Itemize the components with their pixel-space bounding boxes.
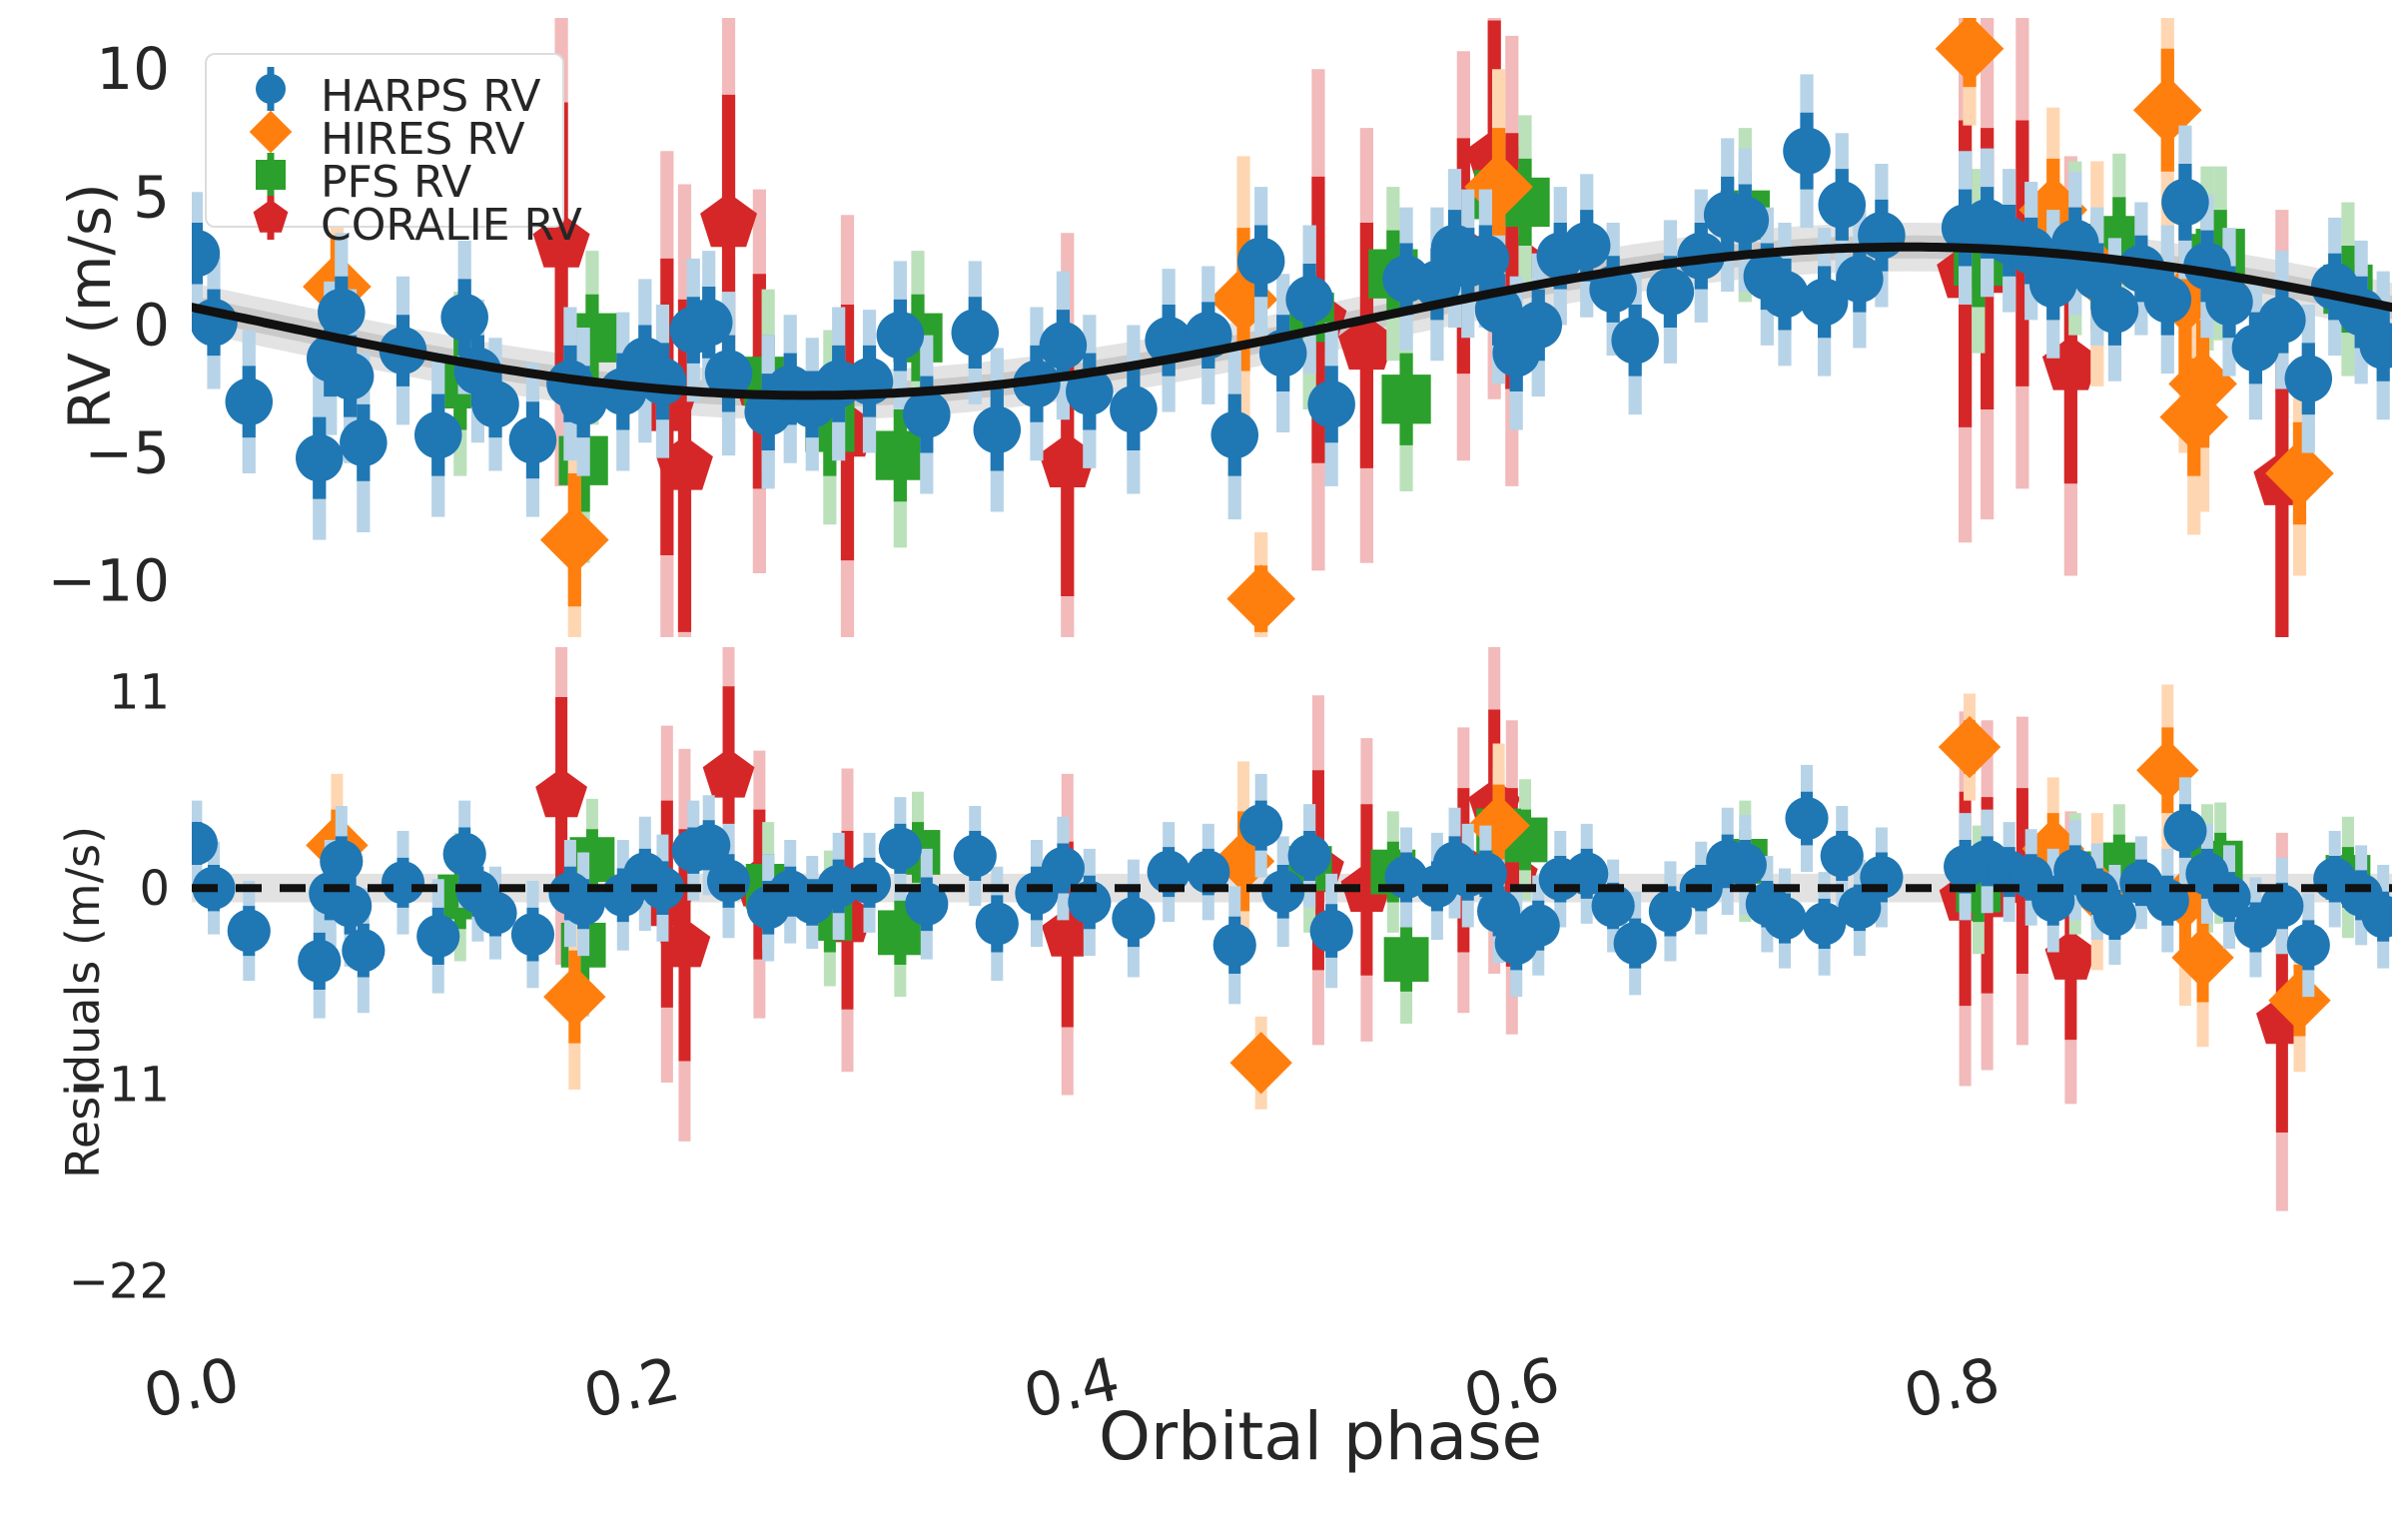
data-point-marker <box>1112 897 1155 940</box>
data-point-marker <box>1614 922 1657 965</box>
data-point-marker <box>1563 222 1611 270</box>
data-point-marker <box>1381 375 1430 423</box>
data-point-marker <box>1210 411 1258 459</box>
data-point-marker <box>342 929 385 972</box>
residuals-y-tick-label: 0 <box>139 861 170 917</box>
data-point-marker <box>320 840 363 883</box>
data-point-marker <box>540 505 609 574</box>
x-tick-label: 0.8 <box>1898 1344 2006 1432</box>
data-point-marker <box>511 913 554 956</box>
data-point-marker <box>1239 804 1282 847</box>
data-point-marker <box>2091 286 2139 334</box>
data-point-marker <box>2029 261 2077 309</box>
data-point-marker <box>685 299 733 347</box>
data-point-marker <box>2258 297 2306 345</box>
data-point-marker <box>1818 181 1866 229</box>
data-point-marker <box>471 380 519 428</box>
data-point-marker <box>2287 924 2330 967</box>
data-point-marker <box>703 748 755 797</box>
data-point-marker <box>1783 127 1831 175</box>
data-point-marker <box>416 915 459 958</box>
data-point-marker <box>318 289 366 337</box>
legend-label: CORALIE RV <box>321 200 582 251</box>
rv-phase-figure: −10−50510110−11−220.00.20.40.60.8 RV (m/… <box>0 0 2408 1517</box>
x-tick-label: 0.2 <box>577 1344 685 1432</box>
data-point-marker <box>2163 809 2206 852</box>
data-point-marker <box>1724 843 1767 886</box>
data-point-marker <box>1042 847 1085 890</box>
data-point-marker <box>707 859 750 902</box>
data-point-marker <box>639 358 687 405</box>
data-point-marker <box>1110 385 1158 433</box>
data-point-marker <box>1237 238 1285 286</box>
data-point-marker <box>2359 322 2407 370</box>
data-point-marker <box>876 430 925 479</box>
data-point-marker <box>443 833 486 876</box>
residuals-y-tick-label: −22 <box>69 1253 170 1309</box>
data-point-marker <box>298 940 341 983</box>
data-point-marker <box>1722 197 1770 245</box>
data-point-marker <box>340 419 388 467</box>
data-point-marker <box>952 309 1000 357</box>
data-point-marker <box>1040 322 1088 370</box>
rv-axis-label: RV (m/s) <box>56 183 124 429</box>
data-point-marker <box>382 861 424 904</box>
rv-y-tick-label: 0 <box>133 291 170 359</box>
data-point-marker <box>543 966 605 1028</box>
data-point-marker <box>440 294 488 342</box>
data-point-marker <box>974 406 1022 454</box>
data-point-marker <box>1858 212 1906 260</box>
data-point-marker <box>473 892 516 935</box>
data-point-marker <box>954 834 997 877</box>
data-point-marker <box>2285 355 2333 402</box>
data-point-marker <box>1384 937 1429 982</box>
data-point-marker <box>1285 276 1333 324</box>
data-point-marker <box>2144 276 2192 324</box>
data-point-marker <box>1821 834 1864 877</box>
data-point-marker <box>175 822 218 865</box>
data-point-marker <box>1229 1032 1291 1094</box>
data-point-marker <box>1462 235 1510 283</box>
residuals-axis-label: Residuals (m/s) <box>56 826 110 1178</box>
data-point-marker <box>877 312 925 360</box>
data-point-marker <box>1860 856 1903 899</box>
data-point-marker <box>1213 924 1256 967</box>
data-point-marker <box>226 379 274 426</box>
data-point-marker <box>1761 271 1809 319</box>
data-point-marker <box>535 768 587 817</box>
legend-marker-pentagon-icon <box>225 196 321 256</box>
data-point-marker <box>976 902 1019 945</box>
residuals-panel-frame <box>192 647 2392 1316</box>
legend-item-coralie[interactable]: CORALIE RV <box>225 204 582 247</box>
data-point-marker <box>848 861 891 904</box>
data-point-marker <box>1836 256 1884 304</box>
rv-y-tick-label: −10 <box>48 547 170 615</box>
data-point-marker <box>327 353 375 400</box>
rv-y-tick-label: 10 <box>96 35 170 103</box>
data-point-marker <box>879 827 922 870</box>
rv-y-tick-label: 5 <box>133 163 170 231</box>
data-point-marker <box>2362 895 2405 938</box>
data-point-marker <box>700 193 757 247</box>
data-point-marker <box>1647 268 1695 316</box>
x-tick-label: 0.0 <box>138 1344 246 1432</box>
data-point-marker <box>1611 317 1659 365</box>
data-point-marker <box>2161 179 2209 227</box>
residuals-y-tick-label: 11 <box>109 665 170 721</box>
data-point-marker <box>2205 279 2253 327</box>
data-point-marker <box>1288 834 1331 877</box>
data-point-marker <box>1307 380 1355 428</box>
data-point-marker <box>509 416 557 464</box>
data-point-marker <box>1763 897 1806 940</box>
data-point-marker <box>1517 904 1560 947</box>
data-point-marker <box>228 909 271 952</box>
data-point-marker <box>1226 564 1295 633</box>
x-axis-label: Orbital phase <box>1099 1398 1542 1475</box>
data-point-marker <box>414 411 462 459</box>
data-point-marker <box>1310 909 1353 952</box>
data-point-marker <box>296 434 344 482</box>
data-point-marker <box>1514 302 1562 350</box>
data-point-marker <box>1785 797 1828 840</box>
data-point-marker <box>173 230 221 278</box>
data-point-marker <box>903 390 951 438</box>
